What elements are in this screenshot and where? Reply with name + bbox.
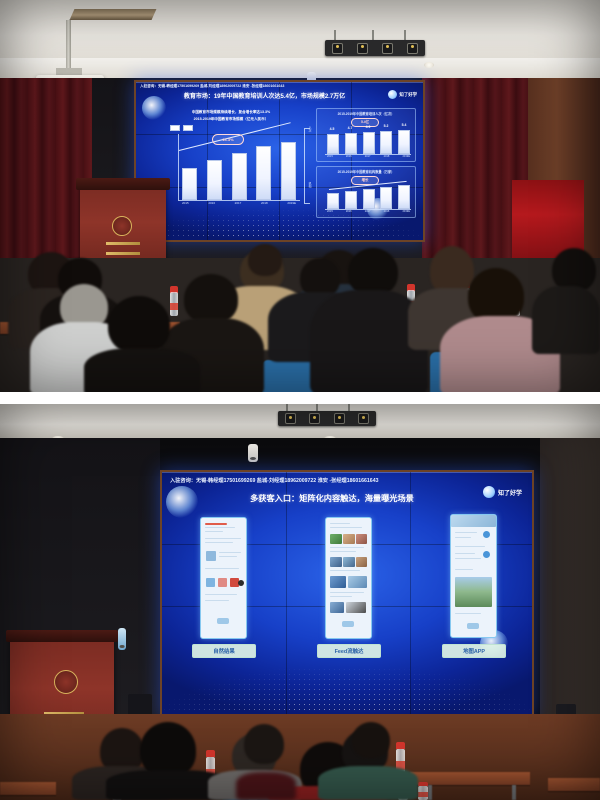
x-tick: 2015: [327, 155, 333, 158]
x-tick: 2018: [384, 155, 390, 158]
bar-value: 4.7: [344, 126, 356, 130]
ph-line: [330, 527, 362, 528]
slide-contact-line: 入驻咨询：无锡-韩经理17501699269 盐城-刘经理18962009722…: [140, 84, 284, 89]
audience-head: [352, 722, 390, 758]
chart-top-right-x-labels: 2015 2016 2017 2018 2019E: [327, 155, 410, 158]
main-chart-bars: [182, 142, 296, 200]
bar: [363, 132, 375, 154]
ph-line: [455, 558, 481, 559]
chart-top-right-bars: [327, 131, 410, 154]
panel-separator: [0, 392, 600, 404]
audience-body: [318, 766, 418, 800]
ph-photo: [346, 602, 366, 613]
audience-head: [244, 724, 284, 764]
podium-top: [6, 630, 118, 642]
brand-logo: 知了好学: [388, 90, 417, 99]
podium-stripe: [106, 242, 140, 245]
ph-photo: [330, 534, 342, 544]
photo-composite: 入驻咨询：无锡-韩经理17501699269 盐城-刘经理18962009722…: [0, 0, 600, 800]
desk: [410, 772, 530, 785]
ceiling-wood-panel: [70, 9, 157, 20]
brand-name: 知了好学: [399, 92, 417, 98]
slide-title: 教育市场：19年中国教育培训人次达5.4亿，市场规模2.7万亿: [150, 91, 379, 100]
audience-head: [184, 274, 238, 324]
photo-panel-top: 入驻咨询：无锡-韩经理17501699269 盐城-刘经理18962009722…: [0, 0, 600, 392]
ph-line: [205, 538, 241, 539]
brand-mark-icon: [388, 90, 397, 99]
bar: [207, 160, 222, 200]
phone-mockup-feed[interactable]: [325, 517, 372, 639]
chart-top-right-ylabel: 人次: [308, 126, 312, 132]
bar-value: 5.2: [380, 124, 392, 128]
bar: [327, 134, 339, 154]
chart-bottom-right-title: 2015-2019年中国教育机构数量（万家）: [317, 169, 415, 174]
main-chart-y-axis: [178, 134, 179, 200]
ph-map-photo: [455, 577, 492, 607]
podium-stripe: [106, 252, 140, 255]
ph-line: [205, 600, 229, 601]
brand-logo: 知了好学: [483, 486, 522, 498]
projector-mount: [56, 68, 82, 75]
ph-line: [205, 542, 233, 543]
desk: [0, 782, 56, 795]
stage-lamp-icon: [285, 413, 296, 424]
x-tick: 2017: [365, 155, 371, 158]
ph-line: [455, 569, 473, 570]
wood-wall-right: [540, 438, 600, 714]
bar: [232, 153, 247, 200]
chart-bottom-right-ylabel: 机构: [308, 182, 312, 188]
ph-avatar: [238, 580, 244, 586]
bar: [281, 142, 296, 200]
photo-panel-bottom: 入驻咨询：无锡-韩经理17501699269 盐城-刘经理18962009722…: [0, 404, 600, 800]
stage-lamp-icon: [358, 413, 369, 424]
decor-dot-wave: [136, 198, 423, 240]
audience-body: [532, 286, 600, 354]
bar-value: 5.4: [398, 123, 410, 127]
wall-top-highlight: [162, 472, 532, 473]
ph-photo: [330, 576, 346, 588]
ph-line: [330, 596, 352, 597]
audience-body: [236, 772, 296, 800]
ph-line: [455, 532, 477, 533]
ph-line: [205, 594, 237, 595]
brand-name: 知了好学: [498, 488, 522, 497]
phone-mockup-map-app[interactable]: [450, 514, 497, 638]
chart-brace: [304, 128, 310, 204]
stage-lamp-icon: [309, 413, 320, 424]
water-bottle: [170, 286, 178, 316]
water-bottle: [418, 782, 428, 800]
audience-head: [108, 296, 170, 354]
desk: [548, 778, 600, 791]
led-video-wall[interactable]: 入驻咨询：无锡-韩经理17501699269 盐城-刘经理18962009722…: [134, 80, 425, 242]
ph-line: [205, 568, 239, 569]
bar: [398, 130, 410, 154]
main-chart-legend: [170, 125, 193, 131]
podium-top: [76, 178, 170, 190]
ph-line: [455, 546, 485, 547]
ph-line: [205, 523, 227, 525]
x-tick: 2019E: [402, 155, 410, 158]
ph-icon-tile: [206, 578, 215, 587]
ph-photo: [356, 534, 367, 544]
chart-top-right-title: 2015-2019年中国教育培训人次（亿次）: [317, 111, 415, 116]
bar: [345, 133, 357, 154]
ph-photo: [330, 557, 342, 567]
audience-head: [248, 244, 282, 276]
stage-lamp-icon: [332, 43, 343, 54]
ph-photo: [330, 602, 344, 613]
stage-lamp-icon: [407, 43, 418, 54]
ph-map-header: [451, 515, 496, 527]
stage-light-bar: [325, 40, 425, 56]
decor-dot-wave: [162, 647, 532, 717]
audience-body: [84, 348, 200, 392]
ph-line: [330, 551, 356, 552]
ph-line: [330, 523, 350, 524]
bar: [256, 146, 271, 200]
ph-search-bar: [217, 618, 229, 624]
stage-lamp-icon: [357, 43, 368, 54]
ph-line: [330, 547, 364, 548]
ph-line: [455, 553, 475, 554]
bar-value: 4.9: [362, 125, 374, 129]
ph-line: [219, 556, 237, 557]
podium-microphone: [118, 628, 126, 650]
projector-arm: [66, 20, 71, 72]
ph-line: [330, 592, 364, 593]
audience-head: [348, 248, 398, 296]
ph-search-bar: [467, 623, 479, 629]
ph-thumb: [206, 551, 216, 561]
legend-swatch: [183, 125, 193, 131]
podium-emblem: [54, 670, 78, 694]
ph-line: [455, 613, 481, 614]
desk-leg: [512, 785, 516, 800]
ph-line: [330, 570, 360, 571]
bar: [380, 131, 392, 154]
stage-light-bar: [278, 411, 376, 426]
podium-emblem: [112, 216, 132, 236]
ph-photo: [343, 534, 355, 544]
stage-lamp-icon: [382, 43, 393, 54]
ph-map-pin-icon: [483, 551, 490, 558]
ph-line: [219, 552, 241, 553]
bar: [182, 168, 197, 200]
ph-photo: [343, 557, 355, 567]
stage-curtain-left: [0, 78, 92, 263]
slide-title: 多获客入口：矩阵化内容触达，海量曝光场景: [192, 492, 472, 504]
ph-icon-tile: [218, 578, 227, 587]
ph-line: [455, 537, 471, 538]
legend-swatch: [170, 125, 180, 131]
bottle-label: [170, 303, 178, 311]
ceiling-downlight: [424, 62, 434, 68]
brand-mark-icon: [483, 486, 495, 498]
stage-lamp-icon: [334, 413, 345, 424]
ph-photo: [356, 557, 367, 567]
bottle-label: [418, 792, 428, 797]
ph-line: [205, 531, 223, 532]
main-chart-caption-1: 中国教育市场规模持续增长，复合增长率达13.3%: [156, 110, 306, 115]
ph-search-bar: [342, 621, 354, 627]
x-tick: 2016: [346, 155, 352, 158]
desk-leg: [428, 785, 432, 800]
ph-line: [205, 527, 235, 528]
ph-map-pin-icon: [483, 531, 490, 538]
slide-contact-line: 入驻咨询：无锡-韩经理17501699269 盐城-刘经理18962009722…: [170, 477, 378, 484]
chart-top-right: 2015-2019年中国教育培训人次（亿次） 5.4亿 4.5 4.7 4.9 …: [316, 108, 416, 162]
led-video-wall[interactable]: 入驻咨询：无锡-韩经理17501699269 盐城-刘经理18962009722…: [160, 470, 534, 719]
ph-photo: [348, 576, 367, 588]
phone-mockup-natural-result[interactable]: [200, 517, 247, 639]
ceiling-speaker: [248, 444, 258, 462]
main-chart-caption-2: 2015-2019年中国教育市场规模（亿元人民币）: [156, 117, 306, 122]
